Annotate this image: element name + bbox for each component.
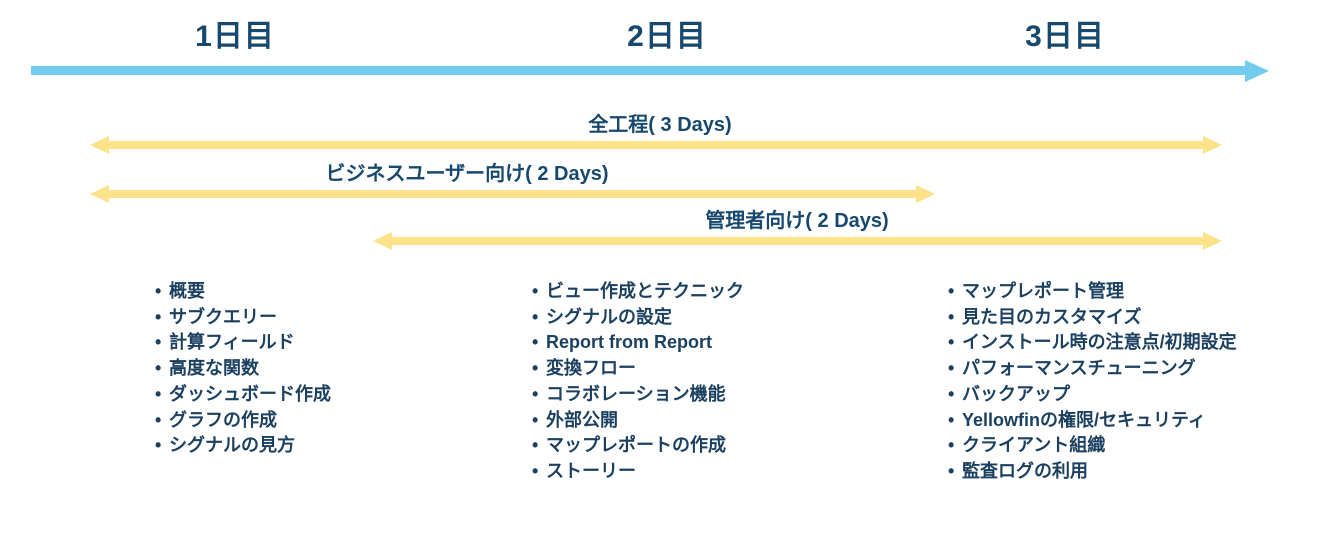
bullet-icon: • [532,459,546,485]
span-arrow-3 [373,232,1222,250]
bullet-icon: • [532,408,546,434]
bullet-icon: • [948,433,962,459]
bullet-icon: • [948,330,962,356]
bullet-icon: • [532,382,546,408]
bullet-icon: • [155,433,169,459]
list-item: •グラフの作成 [155,408,331,434]
bullet-icon: • [948,459,962,485]
list-item-label: サブクエリー [169,305,277,331]
list-item-label: シグナルの設定 [546,305,672,331]
bullet-icon: • [532,433,546,459]
list-item: •ビュー作成とテクニック [532,279,744,305]
bullet-icon: • [948,356,962,382]
list-item-label: マップレポート管理 [962,279,1124,305]
bullet-icon: • [948,305,962,331]
list-item: •計算フィールド [155,330,331,356]
day-header-3: 3日目 [1025,18,1105,56]
list-item: •シグナルの見方 [155,433,331,459]
list-item-label: コラボレーション機能 [546,382,726,408]
list-item-label: Report from Report [546,330,712,356]
topic-column-day1: •概要•サブクエリー•計算フィールド•高度な関数•ダッシュボード作成•グラフの作… [155,279,331,459]
bullet-icon: • [155,305,169,331]
list-item-label: インストール時の注意点/初期設定 [962,330,1237,356]
bullet-icon: • [532,279,546,305]
bullet-icon: • [155,330,169,356]
list-item-label: 変換フロー [546,356,636,382]
span-label-1: 全工程( 3 Days) [588,112,731,138]
list-item: •コラボレーション機能 [532,382,744,408]
timeline-axis-line [31,66,1253,75]
bullet-icon: • [948,279,962,305]
day-header-2: 2日目 [627,18,707,56]
bullet-icon: • [155,279,169,305]
bullet-icon: • [155,382,169,408]
bullet-icon: • [155,408,169,434]
list-item-label: 監査ログの利用 [962,459,1088,485]
bullet-icon: • [532,305,546,331]
list-item: •Report from Report [532,330,744,356]
list-item: •外部公開 [532,408,744,434]
arrow-bar [390,237,1205,245]
list-item: •バックアップ [948,382,1237,408]
list-item-label: ダッシュボード作成 [169,382,331,408]
list-item-label: 見た目のカスタマイズ [962,305,1141,331]
list-item-label: マップレポートの作成 [546,433,726,459]
list-item-label: クライアント組織 [962,433,1105,459]
list-item: •マップレポート管理 [948,279,1237,305]
span-row-1: 全工程( 3 Days) [0,98,1337,154]
list-item: •監査ログの利用 [948,459,1237,485]
list-item-label: 概要 [169,279,205,305]
topic-column-day2: •ビュー作成とテクニック•シグナルの設定•Report from Report•… [532,279,744,485]
list-item: •変換フロー [532,356,744,382]
day-header-1: 1日目 [195,18,275,56]
list-item-label: グラフの作成 [169,408,277,434]
bullet-icon: • [948,408,962,434]
list-item-label: 高度な関数 [169,356,259,382]
list-item: •見た目のカスタマイズ [948,305,1237,331]
span-label-2: ビジネスユーザー向け( 2 Days) [326,161,609,187]
training-schedule-diagram: 1日目2日目3日目 全工程( 3 Days)ビジネスユーザー向け( 2 Days… [0,0,1337,546]
list-item-label: 計算フィールド [169,330,295,356]
list-item-label: ビュー作成とテクニック [546,279,744,305]
list-item: •ダッシュボード作成 [155,382,331,408]
list-item: •ストーリー [532,459,744,485]
list-item: •概要 [155,279,331,305]
list-item: •Yellowfinの権限/セキュリティ [948,408,1237,434]
span-row-3: 管理者向け( 2 Days) [0,194,1337,250]
bullet-icon: • [155,356,169,382]
list-item-label: バックアップ [962,382,1070,408]
list-item: •高度な関数 [155,356,331,382]
list-item-label: シグナルの見方 [169,433,295,459]
timeline-axis [31,60,1283,82]
list-item: •インストール時の注意点/初期設定 [948,330,1237,356]
list-item: •クライアント組織 [948,433,1237,459]
bullet-icon: • [532,356,546,382]
bullet-icon: • [532,330,546,356]
list-item-label: Yellowfinの権限/セキュリティ [962,408,1206,434]
topic-column-day3: •マップレポート管理•見た目のカスタマイズ•インストール時の注意点/初期設定•パ… [948,279,1237,485]
list-item: •サブクエリー [155,305,331,331]
bullet-icon: • [948,382,962,408]
list-item-label: パフォーマンスチューニング [962,356,1196,382]
list-item-label: 外部公開 [546,408,618,434]
arrowhead-right-icon [1203,232,1222,250]
timeline-arrowhead-right-icon [1245,60,1269,82]
list-item: •パフォーマンスチューニング [948,356,1237,382]
list-item-label: ストーリー [546,459,636,485]
list-item: •シグナルの設定 [532,305,744,331]
span-label-3: 管理者向け( 2 Days) [705,208,888,234]
list-item: •マップレポートの作成 [532,433,744,459]
